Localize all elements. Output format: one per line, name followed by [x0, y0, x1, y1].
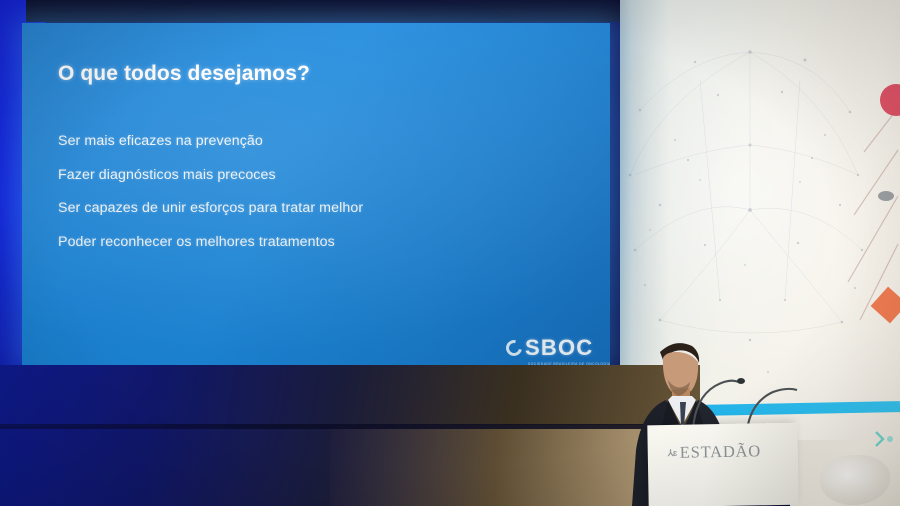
sboc-wordmark: SBOC	[525, 335, 593, 361]
slide-bullet-item: Poder reconhecer os melhores tratamentos	[58, 234, 363, 250]
podium-label: ESTADÃO	[680, 441, 762, 462]
podium-branding: ⅄ɛ ESTADÃO	[668, 441, 762, 463]
slide-bullet-item: Ser mais eficazes na prevenção	[58, 133, 363, 149]
slide-title: O que todos desejamos?	[58, 62, 310, 86]
slide-bullet-list: Ser mais eficazes na prevenção Fazer dia…	[58, 133, 363, 267]
projected-slide: O que todos desejamos? Ser mais eficazes…	[22, 23, 610, 365]
slide-bullet-item: Ser capazes de unir esforços para tratar…	[58, 200, 363, 216]
floor-seam	[0, 424, 700, 429]
teal-accent-mark-icon	[874, 428, 896, 450]
sboc-circle-icon	[503, 337, 525, 359]
conference-photo-scene: O que todos desejamos? Ser mais eficazes…	[0, 0, 900, 506]
wall-accent-shapes-icon	[840, 0, 900, 370]
podium: ⅄ɛ ESTADÃO	[647, 423, 798, 506]
estadao-leaf-icon: ⅄ɛ	[668, 447, 677, 458]
sboc-logo: SBOC SOCIEDADE BRASILEIRA DE ONCOLOGIA C…	[506, 335, 610, 365]
slide-bullet-item: Fazer diagnósticos mais precoces	[58, 167, 363, 183]
